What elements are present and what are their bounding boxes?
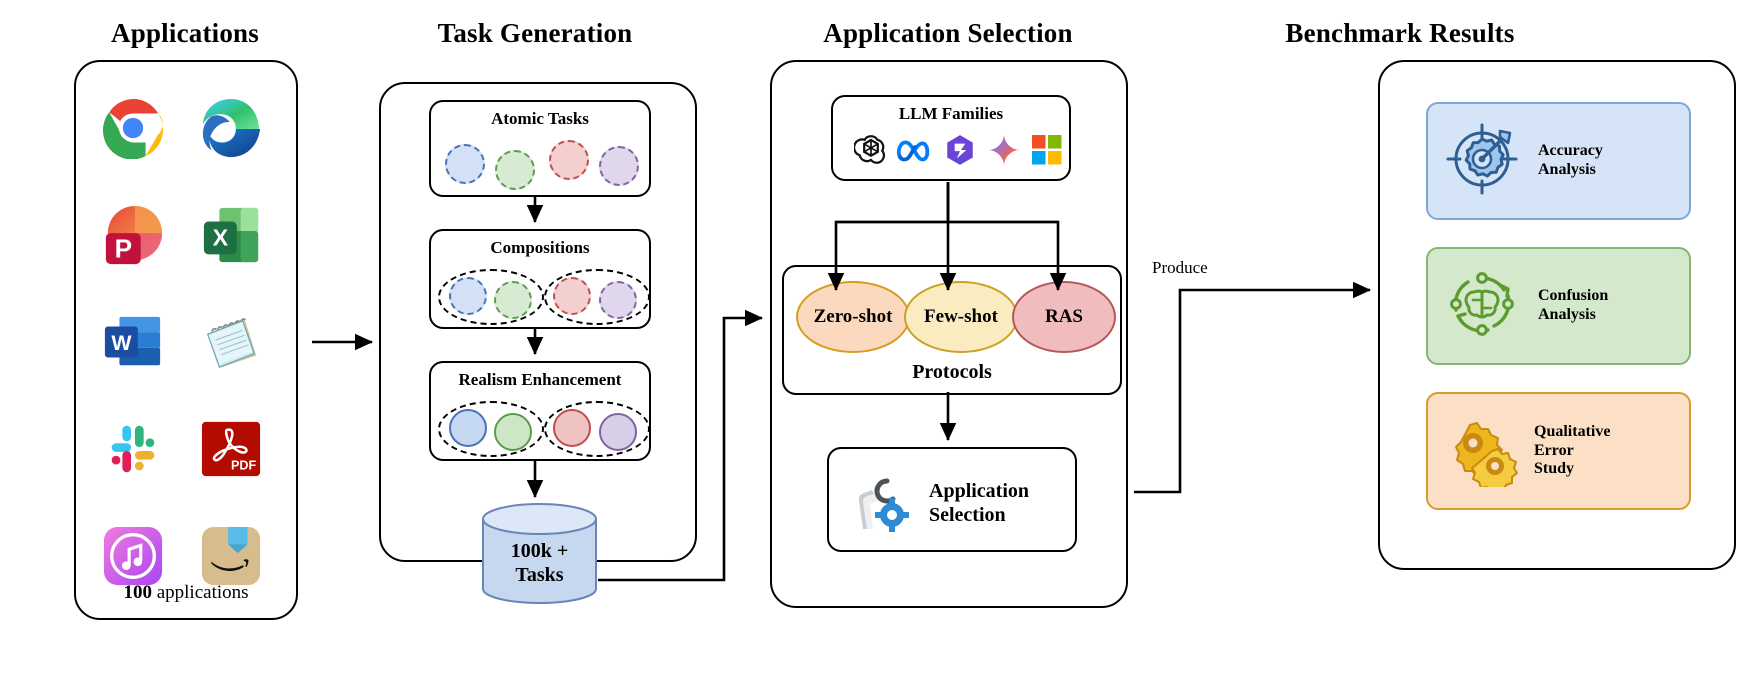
atomic-tasks-box: Atomic Tasks bbox=[429, 100, 651, 197]
task-circle-green bbox=[495, 150, 535, 190]
amazon-icon bbox=[200, 525, 262, 587]
task-circle-blue bbox=[445, 144, 485, 184]
task-circle-green bbox=[494, 281, 532, 319]
llm-families-title: LLM Families bbox=[833, 104, 1069, 124]
llm-families-box: LLM Families bbox=[831, 95, 1071, 181]
openai-logo bbox=[854, 133, 888, 172]
result-card-confusion[interactable]: Confusion Analysis bbox=[1426, 247, 1691, 365]
meta-logo bbox=[896, 137, 934, 168]
column-title-application-selection: Application Selection bbox=[798, 18, 1098, 49]
result-card-accuracy-label: Accuracy Analysis bbox=[1538, 142, 1603, 180]
realism-enhancement-box: Realism Enhancement bbox=[429, 361, 651, 461]
result-card-accuracy[interactable]: Accuracy Analysis bbox=[1426, 102, 1691, 220]
gears-icon bbox=[1442, 411, 1522, 492]
column-title-applications: Applications bbox=[35, 18, 335, 49]
task-database: 100k + Tasks bbox=[481, 501, 598, 607]
applications-count: 100 bbox=[123, 582, 152, 603]
task-circle-blue bbox=[449, 277, 487, 315]
task-circle-blue bbox=[449, 409, 487, 447]
task-circle-purple bbox=[599, 146, 639, 186]
arrow-appselection-to-benchmark bbox=[1134, 290, 1370, 492]
task-circle-green bbox=[494, 413, 532, 451]
applications-count-label: applications bbox=[152, 582, 249, 603]
chrome-icon bbox=[102, 97, 164, 159]
task-generation-panel: Atomic Tasks Compositions Realism Enhanc… bbox=[379, 82, 697, 562]
result-card-qualitative-label: Qualitative Error Study bbox=[1534, 423, 1610, 480]
result-card-qualitative-error[interactable]: Qualitative Error Study bbox=[1426, 392, 1691, 510]
applications-caption: 100 applications bbox=[76, 582, 296, 604]
task-circle-red bbox=[549, 140, 589, 180]
protocols-box: Zero-shot Few-shot RAS Protocols bbox=[782, 265, 1122, 395]
svg-text:X: X bbox=[213, 225, 229, 251]
compositions-box: Compositions bbox=[429, 229, 651, 329]
svg-text:PDF: PDF bbox=[231, 458, 256, 472]
target-gear-icon bbox=[1444, 121, 1520, 202]
notepad-icon bbox=[200, 311, 262, 373]
microsoft-logo bbox=[1032, 135, 1062, 170]
benchmark-results-panel: Accuracy Analysis bbox=[1378, 60, 1736, 570]
svg-text:W: W bbox=[111, 331, 132, 355]
excel-icon: X bbox=[200, 204, 262, 266]
applications-panel: P X W bbox=[74, 60, 298, 620]
protocols-label: Protocols bbox=[784, 361, 1120, 384]
task-circle-purple bbox=[599, 281, 637, 319]
robot-arm-gear-icon bbox=[847, 471, 913, 538]
protocol-ras[interactable]: RAS bbox=[1012, 281, 1116, 353]
selection-result-label: Application Selection bbox=[929, 479, 1029, 527]
powerpoint-icon: P bbox=[102, 204, 164, 266]
task-database-label: 100k + Tasks bbox=[481, 539, 598, 587]
column-title-task-generation: Task Generation bbox=[385, 18, 685, 49]
compositions-title: Compositions bbox=[431, 238, 649, 258]
protocol-few-shot[interactable]: Few-shot bbox=[904, 281, 1018, 353]
qwen-logo bbox=[943, 133, 977, 172]
task-circle-purple bbox=[599, 413, 637, 451]
pdf-icon: PDF bbox=[200, 418, 262, 480]
itunes-icon bbox=[102, 525, 164, 587]
task-circle-red bbox=[553, 277, 591, 315]
realism-enhancement-title: Realism Enhancement bbox=[431, 370, 649, 390]
column-title-benchmark-results: Benchmark Results bbox=[1250, 18, 1550, 49]
application-selection-panel: LLM Families bbox=[770, 60, 1128, 608]
atomic-tasks-title: Atomic Tasks bbox=[431, 109, 649, 129]
task-circle-red bbox=[553, 409, 591, 447]
protocol-zero-shot[interactable]: Zero-shot bbox=[796, 281, 910, 353]
slack-icon bbox=[102, 418, 164, 480]
svg-text:P: P bbox=[115, 233, 132, 263]
brain-cycle-icon bbox=[1444, 266, 1520, 347]
produce-label: Produce bbox=[1152, 258, 1208, 278]
edge-icon bbox=[200, 97, 262, 159]
result-card-confusion-label: Confusion Analysis bbox=[1538, 287, 1608, 325]
word-icon: W bbox=[102, 311, 164, 373]
selection-result-box: Application Selection bbox=[827, 447, 1077, 552]
gemini-logo bbox=[987, 133, 1021, 172]
